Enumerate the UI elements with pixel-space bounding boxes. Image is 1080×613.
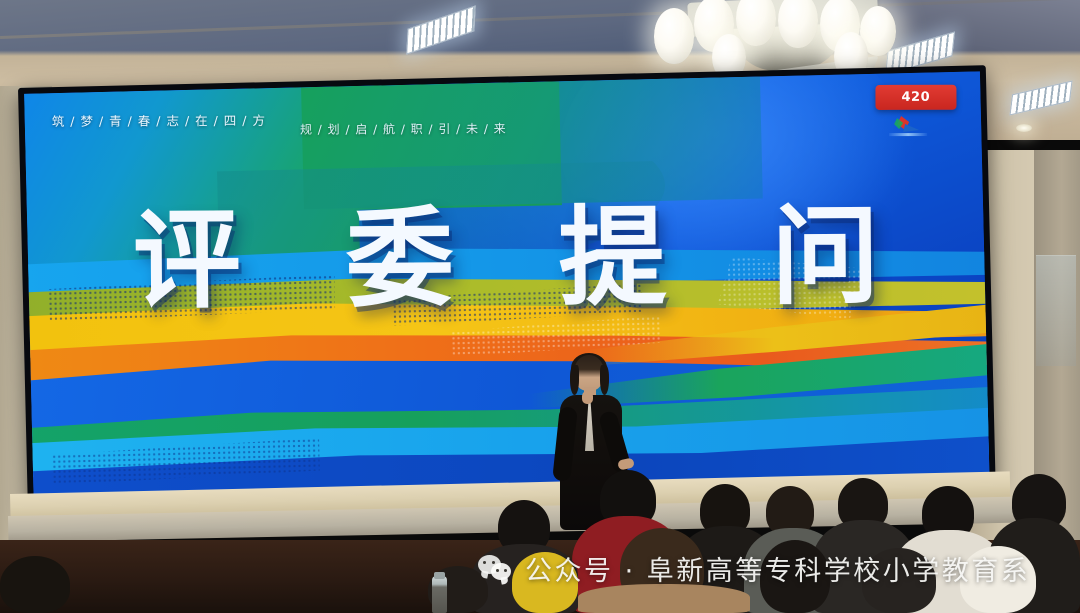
water-bottle-on-stage-edge: [432, 576, 447, 613]
led-screen-wrapper: 筑 / 梦 / 青 / 春 / 志 / 在 / 四 / 方 规 / 划 / 启 …: [18, 65, 996, 508]
slogan-left: 筑 / 梦 / 青 / 春 / 志 / 在 / 四 / 方: [52, 110, 266, 130]
presenter-hair-right: [600, 365, 609, 395]
presenter-hair-left: [570, 365, 579, 395]
audience-body: [578, 584, 750, 613]
screen-slogan-row: 筑 / 梦 / 青 / 春 / 志 / 在 / 四 / 方 规 / 划 / 启 …: [52, 109, 507, 130]
chandelier-bulb: [654, 8, 694, 64]
slogan-right: 规 / 划 / 启 / 航 / 职 / 引 / 未 / 来: [300, 120, 507, 138]
water-bottle-cap: [434, 572, 445, 579]
wechat-dot: [504, 569, 507, 572]
presenter-hand-left: [582, 391, 593, 404]
screen-badge-logo-icon: [890, 114, 928, 136]
recessed-downlight-icon: [1016, 124, 1032, 132]
audience-head: [0, 556, 70, 613]
screen-number-badge: 420: [875, 85, 956, 110]
wechat-bubble-small: [491, 563, 511, 580]
watermark-text: 公众号 · 阜新高等专科学校小学教育系: [525, 549, 1030, 588]
presenter-hand-right: [617, 457, 635, 470]
led-screen-display: 筑 / 梦 / 青 / 春 / 志 / 在 / 四 / 方 规 / 划 / 启 …: [24, 71, 989, 501]
wechat-icon: [478, 555, 512, 583]
wechat-dot: [496, 569, 499, 572]
wechat-dot: [483, 561, 486, 564]
wechat-dot: [492, 561, 495, 564]
right-wall-glass-panel: [1036, 255, 1076, 366]
screenshot-root: 筑 / 梦 / 青 / 春 / 志 / 在 / 四 / 方 规 / 划 / 启 …: [0, 0, 1080, 613]
badge-logo-underline: [890, 133, 928, 136]
watermark: 公众号 · 阜新高等专科学校小学教育系: [478, 549, 1030, 588]
